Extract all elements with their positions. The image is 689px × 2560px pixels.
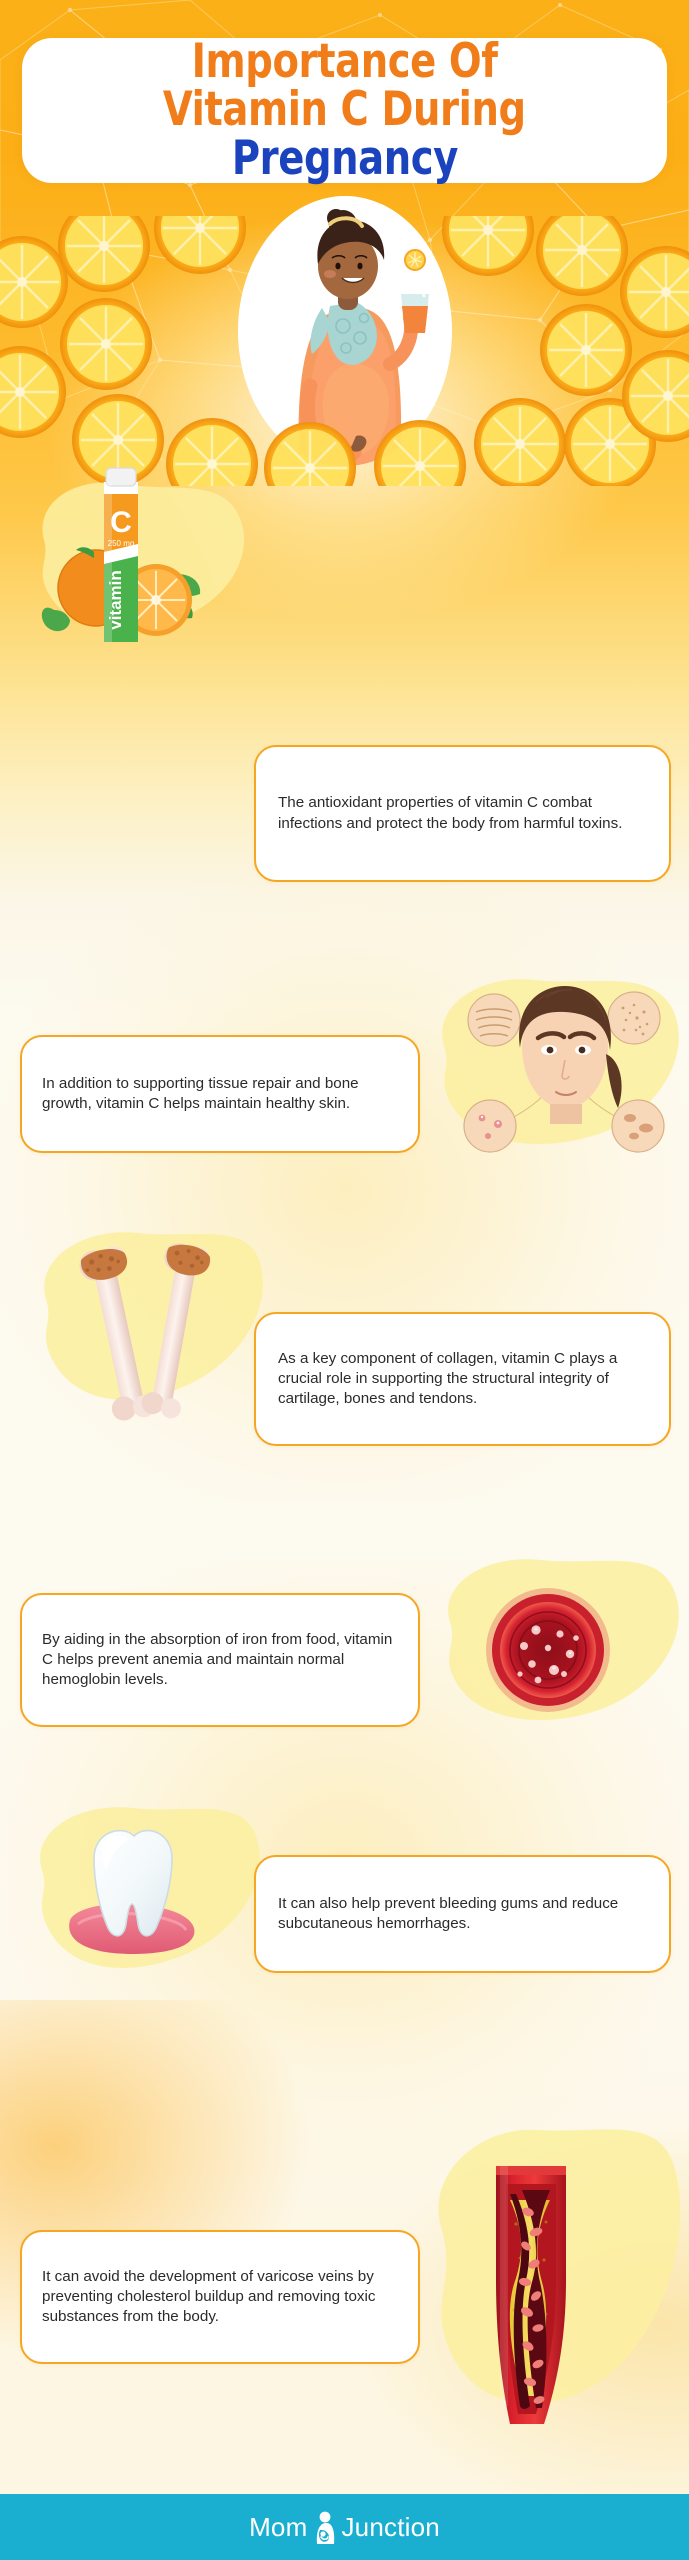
card-iron[interactable]: By aiding in the absorption of iron from…	[20, 1593, 420, 1727]
card-antioxidant-text: The antioxidant properties of vitamin C …	[256, 793, 669, 833]
brand-text-mom: Mom	[249, 2512, 307, 2543]
card-iron-text: By aiding in the absorption of iron from…	[22, 1630, 418, 1691]
citrus-slice-ring	[0, 216, 689, 486]
card-gums-text: It can also help prevent bleeding gums a…	[256, 1894, 669, 1934]
card-collagen[interactable]: As a key component of collagen, vitamin …	[254, 1312, 671, 1446]
card-skin-text: In addition to supporting tissue repair …	[22, 1074, 418, 1114]
card-veins-text: It can avoid the development of varicose…	[22, 2267, 418, 2328]
brand-text-junction: Junction	[341, 2512, 439, 2543]
card-antioxidant[interactable]: The antioxidant properties of vitamin C …	[254, 745, 671, 882]
card-veins[interactable]: It can avoid the development of varicose…	[20, 2230, 420, 2364]
momjunction-logo[interactable]: Mom Junction	[249, 2510, 440, 2544]
card-gums[interactable]: It can also help prevent bleeding gums a…	[254, 1855, 671, 1973]
mother-and-baby-icon	[309, 2510, 339, 2544]
footer-bar: Mom Junction	[0, 2494, 689, 2560]
card-collagen-text: As a key component of collagen, vitamin …	[256, 1349, 669, 1410]
hero-illustration	[0, 196, 689, 486]
title-line-1: Importance Of	[191, 39, 497, 85]
card-skin[interactable]: In addition to supporting tissue repair …	[20, 1035, 420, 1153]
title-card: Importance Of Vitamin C During Pregnancy	[22, 38, 667, 183]
title-line-3: Pregnancy	[231, 136, 457, 182]
title-line-2: Vitamin C During	[163, 87, 526, 133]
